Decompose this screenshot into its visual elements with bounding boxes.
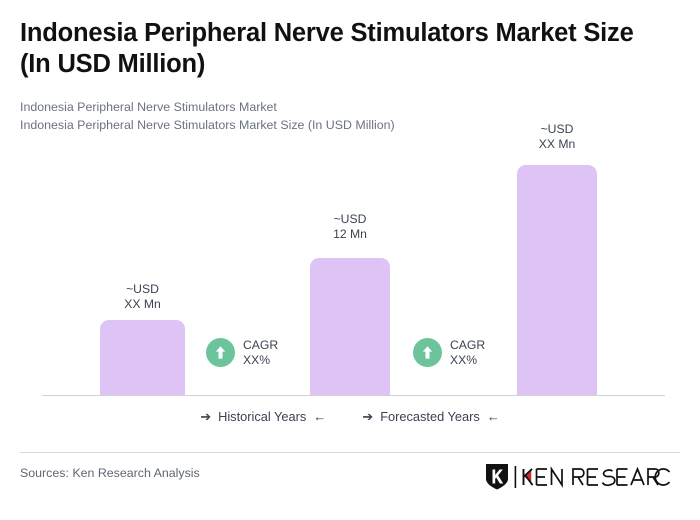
page-title: Indonesia Peripheral Nerve Stimulators M… xyxy=(20,18,670,80)
bar-forecast[interactable] xyxy=(517,165,597,395)
bar-historical[interactable] xyxy=(100,320,185,395)
cagr-value: XX% xyxy=(450,353,485,368)
bar-value-line-2: 12 Mn xyxy=(310,227,390,242)
period-label: Historical Years xyxy=(218,409,306,424)
arrow-left-icon: ← xyxy=(313,410,326,423)
cagr-label: CAGR xyxy=(450,338,485,353)
ken-research-shield-icon xyxy=(484,462,510,491)
sources-text: Sources: Ken Research Analysis xyxy=(20,466,200,480)
ken-research-wordmark xyxy=(521,466,671,488)
cagr-value: XX% xyxy=(243,353,278,368)
bar-value-line-2: XX Mn xyxy=(517,137,597,152)
period-legend: ➔ Historical Years ← ➔ Forecasted Years … xyxy=(0,409,700,424)
arrow-right-icon: ➔ xyxy=(200,410,211,423)
cagr-text: CAGR XX% xyxy=(243,338,278,367)
cagr-badge-historical: CAGR XX% xyxy=(206,338,278,367)
chart-subtitle-line-1: Indonesia Peripheral Nerve Stimulators M… xyxy=(20,99,277,115)
arrow-right-icon: ➔ xyxy=(362,410,373,423)
arrow-up-icon xyxy=(413,338,442,367)
period-forecasted-years: ➔ Forecasted Years ← xyxy=(362,409,500,424)
bar-value-line-1: ~USD xyxy=(310,212,390,227)
cagr-text: CAGR XX% xyxy=(450,338,485,367)
bar-value-line-1: ~USD xyxy=(517,122,597,137)
bar-value-label-1: ~USD XX Mn xyxy=(100,282,185,311)
bar-value-label-2: ~USD 12 Mn xyxy=(310,212,390,241)
footer-divider xyxy=(20,452,680,453)
logo-separator-bar xyxy=(514,466,517,488)
arrow-up-icon xyxy=(206,338,235,367)
bar-value-line-2: XX Mn xyxy=(100,297,185,312)
period-historical-years: ➔ Historical Years ← xyxy=(200,409,326,424)
bar-base-year[interactable] xyxy=(310,258,390,395)
chart-baseline-axis xyxy=(42,395,665,396)
period-label: Forecasted Years xyxy=(380,409,480,424)
ken-research-logo xyxy=(484,462,671,491)
cagr-label: CAGR xyxy=(243,338,278,353)
chart-page: Indonesia Peripheral Nerve Stimulators M… xyxy=(0,0,700,520)
bar-value-label-3: ~USD XX Mn xyxy=(517,122,597,151)
cagr-badge-forecast: CAGR XX% xyxy=(413,338,485,367)
bar-value-line-1: ~USD xyxy=(100,282,185,297)
arrow-left-icon: ← xyxy=(487,410,500,423)
chart-plot-area: ~USD XX Mn ~USD 12 Mn ~USD XX Mn CAGR XX… xyxy=(0,130,700,400)
